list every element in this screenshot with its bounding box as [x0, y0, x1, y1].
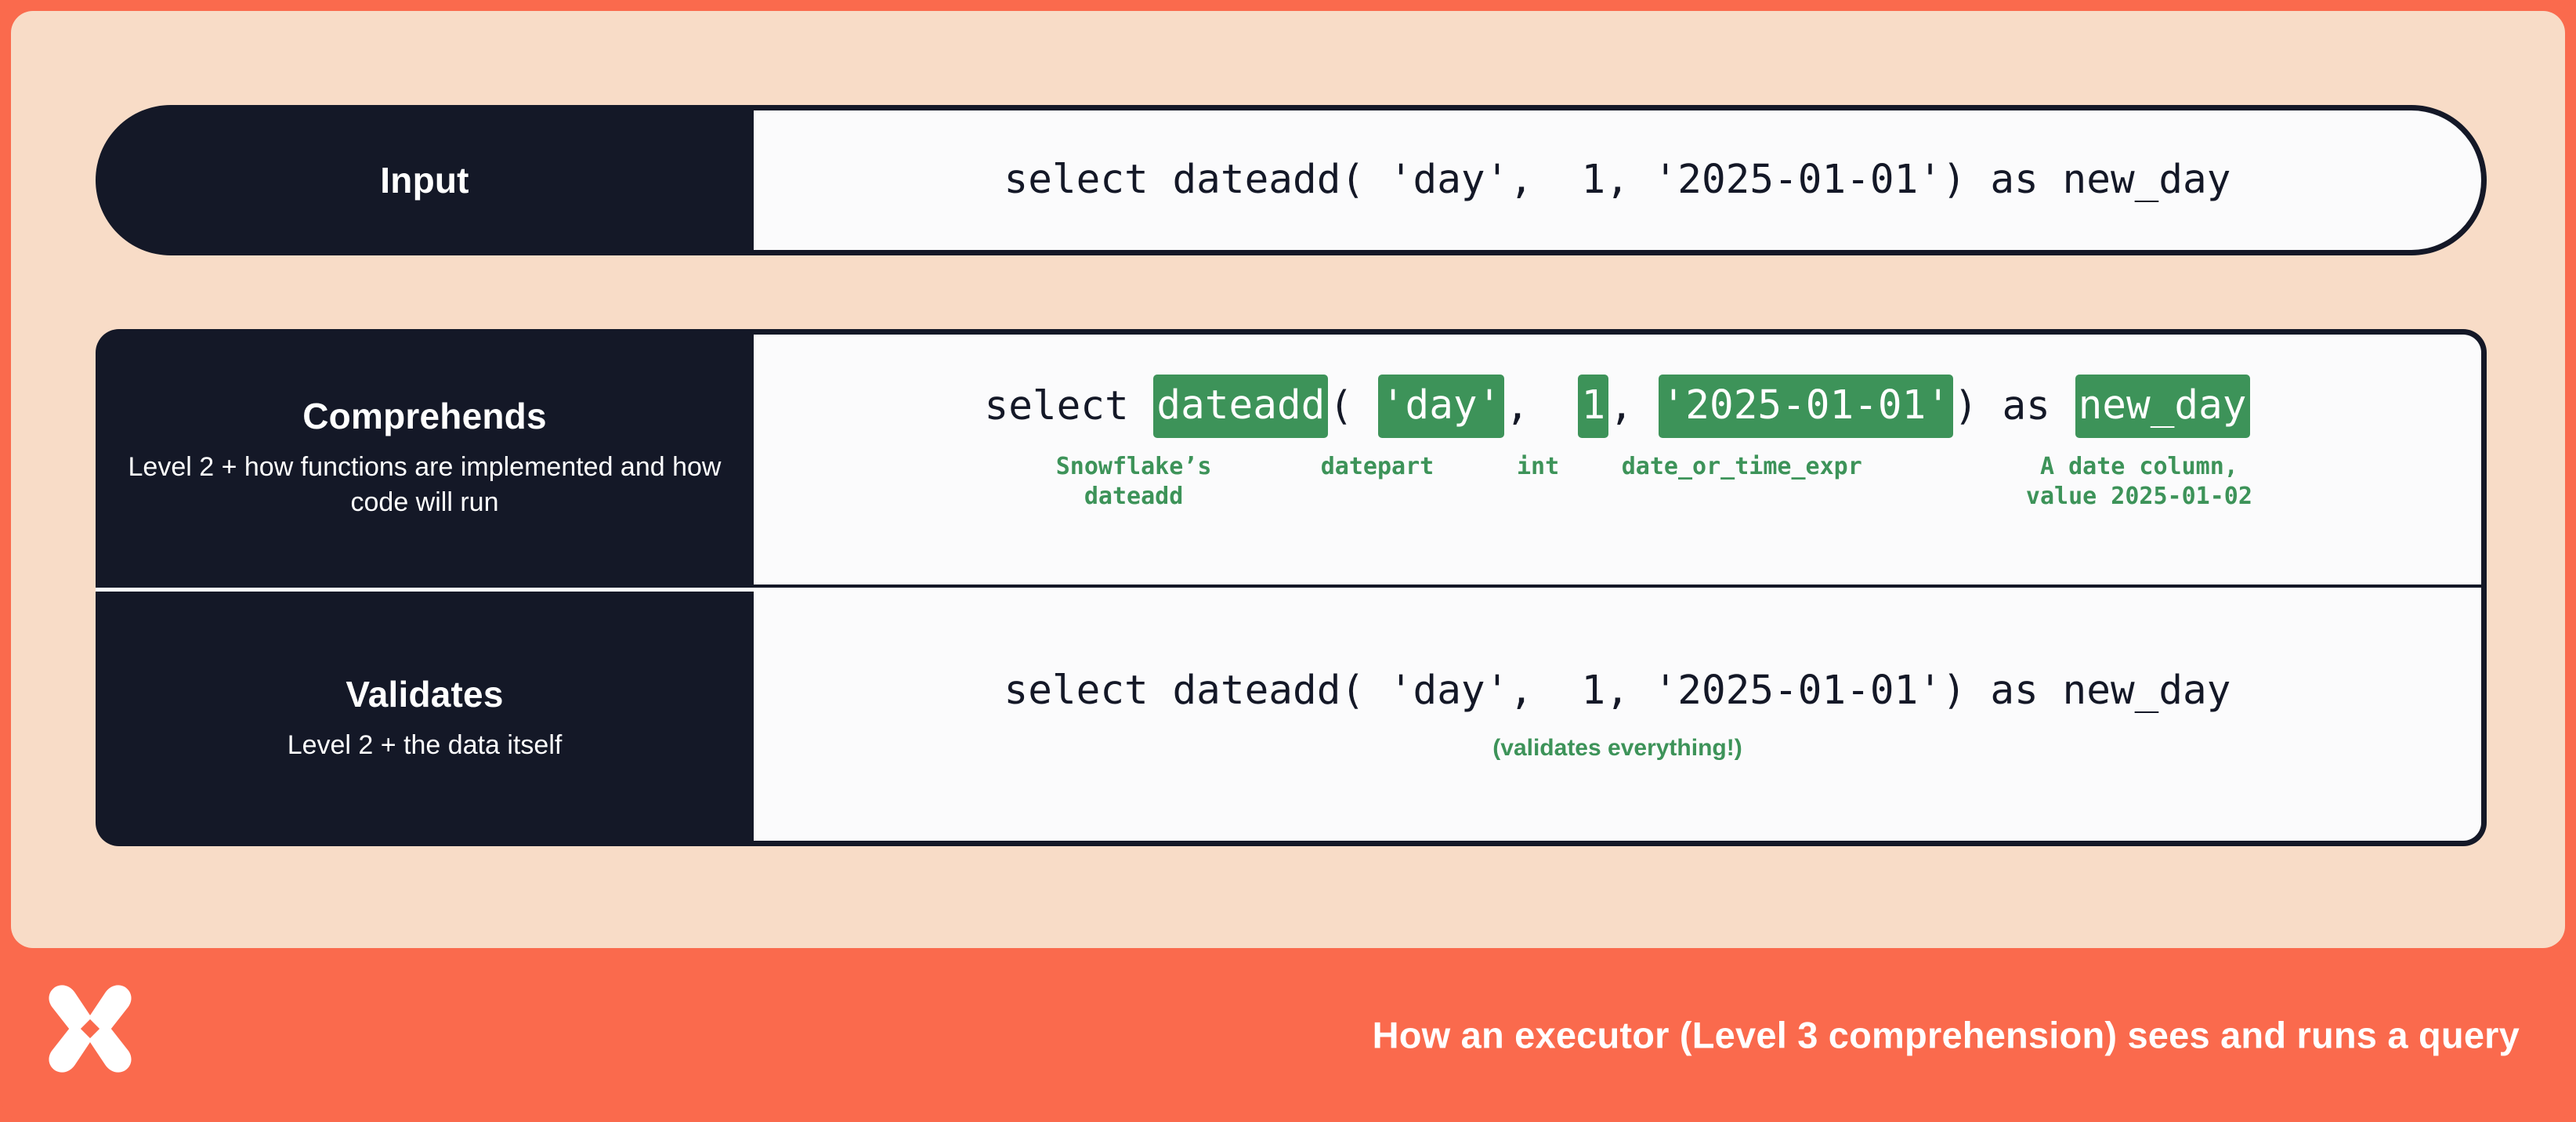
footer-caption: How an executor (Level 3 comprehension) … [1373, 1014, 2520, 1057]
code-token-highlighted: dateadd [1153, 375, 1328, 438]
code-annotation-line: Snowflake’s [1056, 452, 1212, 482]
code-token-highlighted: '2025-01-01' [1659, 375, 1953, 438]
input-row-title: Input [380, 161, 469, 201]
code-token: ) as [1954, 382, 2075, 430]
levels-card-stack: Comprehends Level 2 + how functions are … [96, 329, 2487, 846]
code-annotation: int [1517, 452, 1559, 482]
code-annotation: datepart [1321, 452, 1435, 482]
input-code-pane: select dateadd( 'day', 1, '2025-01-01') … [754, 105, 2487, 255]
code-annotation-line: date_or_time_expr [1622, 452, 1862, 482]
code-annotation-line: int [1517, 452, 1559, 482]
validates-code-pane: select dateadd( 'day', 1, '2025-01-01') … [754, 588, 2487, 846]
code-annotation-line: A date column, [2026, 452, 2252, 482]
code-token-highlighted: new_day [2075, 375, 2250, 438]
code-token: , [1609, 382, 1657, 430]
validates-row: Validates Level 2 + the data itself sele… [96, 588, 2487, 846]
validates-row-subtitle: Level 2 + the data itself [288, 728, 563, 763]
infographic-root: Input select dateadd( 'day', 1, '2025-01… [0, 0, 2576, 1122]
comprehends-code-line: select dateadd( 'day', 1, '2025-01-01') … [984, 375, 2250, 438]
input-code-line: select dateadd( 'day', 1, '2025-01-01') … [1004, 156, 2231, 204]
code-token: ( [1329, 382, 1377, 430]
comprehends-code-pane: select dateadd( 'day', 1, '2025-01-01') … [754, 329, 2487, 588]
input-row-card: Input select dateadd( 'day', 1, '2025-01… [96, 105, 2487, 255]
code-annotation: date_or_time_expr [1622, 452, 1862, 482]
code-token-highlighted: 1 [1578, 375, 1608, 438]
content-stage: Input select dateadd( 'day', 1, '2025-01… [11, 11, 2565, 948]
code-annotation-line: value 2025-01-02 [2026, 482, 2252, 512]
comprehends-row: Comprehends Level 2 + how functions are … [96, 329, 2487, 588]
input-label-pane: Input [96, 105, 754, 255]
comprehends-label-pane: Comprehends Level 2 + how functions are … [96, 329, 754, 588]
code-annotation-line: datepart [1321, 452, 1435, 482]
footer-bar: How an executor (Level 3 comprehension) … [0, 948, 2576, 1122]
code-annotation: Snowflake’sdateadd [1056, 452, 1212, 512]
x-mark-logo-icon [42, 981, 138, 1077]
code-annotation-line: dateadd [1056, 482, 1212, 512]
code-token: , [1505, 382, 1577, 430]
validates-code-line: select dateadd( 'day', 1, '2025-01-01') … [1004, 667, 2231, 715]
validates-note: (validates everything!) [1492, 735, 1742, 762]
comprehends-row-title: Comprehends [302, 396, 546, 436]
code-token-highlighted: 'day' [1378, 375, 1505, 438]
code-token: select [984, 382, 1152, 430]
comprehends-annotations: Snowflake’sdateadddatepartintdate_or_tim… [754, 452, 2481, 545]
validates-row-title: Validates [346, 675, 503, 715]
code-annotation: A date column,value 2025-01-02 [2026, 452, 2252, 512]
validates-label-pane: Validates Level 2 + the data itself [96, 588, 754, 846]
comprehends-row-subtitle: Level 2 + how functions are implemented … [116, 450, 733, 520]
